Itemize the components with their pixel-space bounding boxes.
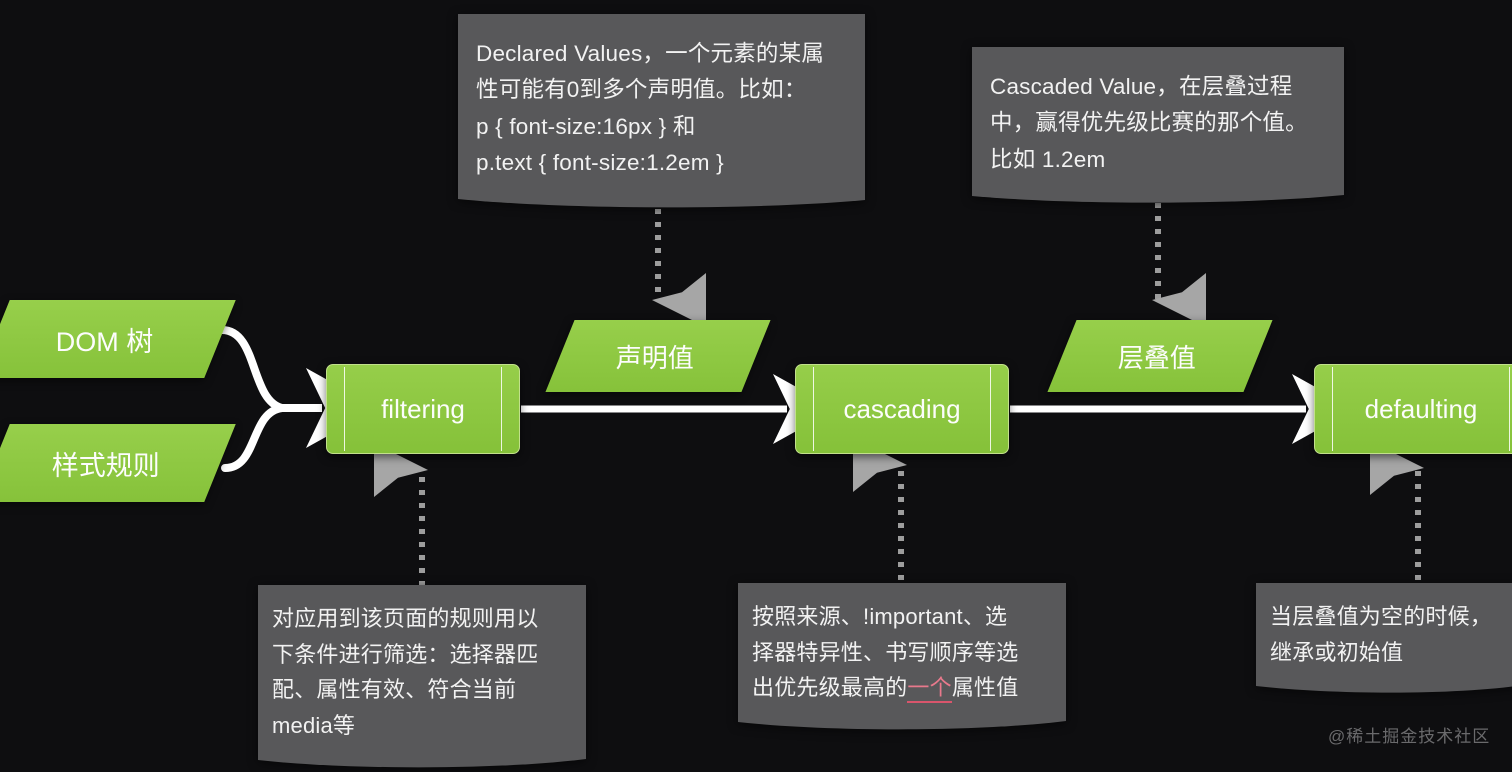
process-filtering-label: filtering bbox=[381, 394, 465, 425]
callout-line-post: 属性值 bbox=[952, 675, 1019, 700]
callout-line: 继承或初始值 bbox=[1270, 635, 1510, 671]
flow-rules-to-filtering bbox=[225, 408, 282, 468]
callout-line: 性可能有0到多个声明值。比如： bbox=[476, 72, 845, 108]
diagram-canvas: Declared Values，一个元素的某属 性可能有0到多个声明值。比如： … bbox=[0, 0, 1512, 764]
callout-line-pre: 出优先级最高的 bbox=[752, 675, 907, 700]
watermark: @稀土掘金技术社区 bbox=[1328, 722, 1490, 747]
callout-tail bbox=[738, 716, 1066, 734]
process-filtering[interactable]: filtering bbox=[326, 364, 520, 454]
callout-cascaded-value: Cascaded Value，在层叠过程 中，赢得优先级比赛的那个值。 比如 1… bbox=[972, 47, 1344, 192]
callout-line: 配、属性有效、符合当前 bbox=[272, 672, 570, 708]
callout-tail bbox=[458, 194, 865, 212]
callout-tail bbox=[1256, 680, 1512, 698]
callout-line: 下条件进行筛选：选择器匹 bbox=[272, 637, 570, 673]
flow-dom-to-filtering bbox=[222, 330, 282, 408]
callout-defaulting-note: 当层叠值为空的时候， 继承或初始值 bbox=[1256, 583, 1512, 682]
node-style-rules-label: 样式规则 bbox=[52, 444, 160, 483]
callout-line: 对应用到该页面的规则用以 bbox=[272, 601, 570, 637]
callout-line: 中，赢得优先级比赛的那个值。 bbox=[990, 105, 1324, 141]
callout-declared-values: Declared Values，一个元素的某属 性可能有0到多个声明值。比如： … bbox=[458, 14, 865, 196]
process-defaulting[interactable]: defaulting bbox=[1314, 364, 1512, 454]
node-dom-tree[interactable]: DOM 树 bbox=[0, 300, 236, 378]
callout-line: p.text { font-size:1.2em } bbox=[476, 145, 845, 181]
callout-cascading-note: 按照来源、!important、选 择器特异性、书写顺序等选 出优先级最高的一个… bbox=[738, 583, 1066, 718]
node-declared-value-label: 声明值 bbox=[616, 338, 694, 375]
node-cascaded-value[interactable]: 层叠值 bbox=[1047, 320, 1272, 392]
callout-highlight: 一个 bbox=[907, 675, 951, 703]
callout-line: 比如 1.2em bbox=[990, 142, 1324, 178]
callout-line: Declared Values，一个元素的某属 bbox=[476, 36, 845, 72]
node-declared-value[interactable]: 声明值 bbox=[545, 320, 770, 392]
node-cascaded-value-label: 层叠值 bbox=[1118, 338, 1196, 375]
process-defaulting-label: defaulting bbox=[1365, 394, 1478, 425]
callout-line-highlighted: 出优先级最高的一个属性值 bbox=[752, 670, 1052, 706]
callout-line: p { font-size:16px } 和 bbox=[476, 109, 845, 145]
callout-line: Cascaded Value，在层叠过程 bbox=[990, 69, 1324, 105]
node-dom-tree-label: DOM 树 bbox=[56, 320, 154, 359]
callout-line: media等 bbox=[272, 708, 570, 744]
callout-tail bbox=[972, 190, 1344, 208]
callout-filtering-note: 对应用到该页面的规则用以 下条件进行筛选：选择器匹 配、属性有效、符合当前 me… bbox=[258, 585, 586, 756]
callout-line: 当层叠值为空的时候， bbox=[1270, 599, 1510, 635]
callout-tail bbox=[258, 754, 586, 772]
callout-line: 按照来源、!important、选 bbox=[752, 599, 1052, 635]
callout-line: 择器特异性、书写顺序等选 bbox=[752, 635, 1052, 671]
node-style-rules[interactable]: 样式规则 bbox=[0, 424, 236, 502]
process-cascading[interactable]: cascading bbox=[795, 364, 1009, 454]
process-cascading-label: cascading bbox=[843, 394, 960, 425]
